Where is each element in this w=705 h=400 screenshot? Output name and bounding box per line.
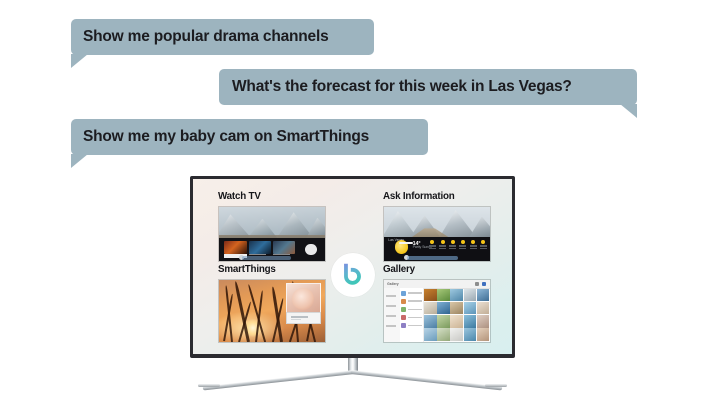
- photo-thumb: [477, 328, 489, 340]
- list-item: [401, 306, 422, 312]
- photo-thumb: [424, 289, 436, 301]
- voice-hint-bar: [242, 256, 291, 260]
- bixby-logo-icon: [339, 262, 366, 289]
- baby-cam-info-panel: [286, 312, 321, 324]
- weather-day: [459, 240, 466, 250]
- list-item: [401, 290, 422, 296]
- more-channels-icon: [305, 244, 317, 256]
- baby-cam-feed: [286, 283, 321, 313]
- photo-thumb: [424, 328, 436, 340]
- photo-thumb: [437, 315, 449, 327]
- smartthings-thumbnail: [218, 279, 326, 343]
- photo-thumb: [477, 289, 489, 301]
- speech-bubble-drama-channels: Show me popular drama channels: [71, 19, 374, 55]
- tile-label: Gallery: [383, 265, 491, 275]
- weather-day: [439, 240, 446, 250]
- weather-forecast-bar: Las Vegas 14° Partly Sunny: [384, 237, 490, 261]
- list-item: [401, 314, 422, 320]
- photo-thumb: [477, 315, 489, 327]
- speech-bubble-text: What's the forecast for this week in Las…: [232, 79, 572, 95]
- photo-thumb: [437, 328, 449, 340]
- tv-screen: Watch TV: [193, 179, 512, 354]
- photo-thumb: [450, 328, 462, 340]
- list-item: [401, 298, 422, 304]
- tile-label: SmartThings: [218, 265, 326, 275]
- speech-bubble-tail: [71, 54, 88, 68]
- speech-bubble-tail: [620, 104, 637, 118]
- photo-thumb: [437, 289, 449, 301]
- gallery-photo-grid: [423, 288, 490, 342]
- photo-thumb: [450, 315, 462, 327]
- weather-day: [480, 240, 487, 250]
- photo-thumb: [437, 302, 449, 314]
- weather-day: [470, 240, 477, 250]
- tile-label: Ask Information: [383, 192, 491, 202]
- photo-thumb: [450, 302, 462, 314]
- photo-thumb: [477, 302, 489, 314]
- gallery-album-list: [400, 288, 424, 342]
- tile-smartthings[interactable]: SmartThings: [218, 265, 326, 343]
- weather-day-list: [429, 240, 487, 250]
- share-icon: [482, 282, 486, 286]
- photo-thumb: [424, 315, 436, 327]
- photo-thumb: [450, 289, 462, 301]
- tv-bezel: Watch TV: [190, 176, 515, 358]
- speech-bubble-text: Show me popular drama channels: [83, 29, 329, 45]
- photo-thumb: [464, 315, 476, 327]
- gallery-sidebar: [384, 288, 401, 342]
- cloud-icon: [399, 242, 413, 244]
- tv-stand: [190, 358, 515, 394]
- stand-foot-left: [198, 384, 220, 387]
- settings-icon: [475, 282, 479, 286]
- channel-rail: [219, 238, 325, 261]
- photo-thumb: [464, 302, 476, 314]
- voice-hint-bar: [407, 256, 458, 260]
- gallery-thumbnail: Gallery: [383, 279, 491, 343]
- tile-gallery[interactable]: Gallery Gallery: [383, 265, 491, 343]
- watch-tv-thumbnail: [218, 206, 326, 262]
- bixby-assistant-badge[interactable]: [331, 253, 375, 297]
- tile-watch-tv[interactable]: Watch TV: [218, 192, 326, 262]
- photo-thumb: [464, 289, 476, 301]
- tile-label: Watch TV: [218, 192, 326, 202]
- stand-foot-right: [485, 384, 507, 387]
- television: Watch TV: [190, 176, 515, 358]
- stand-leg-left: [203, 370, 355, 390]
- speech-bubble-tail: [71, 154, 88, 168]
- photo-thumb: [424, 302, 436, 314]
- ask-information-thumbnail: Las Vegas 14° Partly Sunny: [383, 206, 491, 262]
- gallery-app-title: Gallery: [387, 282, 399, 286]
- tile-ask-information[interactable]: Ask Information Las Vegas 14° Partly Sun…: [383, 192, 491, 262]
- stand-leg-right: [351, 370, 503, 390]
- speech-bubble-baby-cam: Show me my baby cam on SmartThings: [71, 119, 428, 155]
- photo-thumb: [464, 328, 476, 340]
- speech-bubble-text: Show me my baby cam on SmartThings: [83, 129, 369, 145]
- weather-day: [429, 240, 436, 250]
- list-item: [401, 322, 422, 328]
- speech-bubble-forecast: What's the forecast for this week in Las…: [219, 69, 637, 105]
- weather-day: [449, 240, 456, 250]
